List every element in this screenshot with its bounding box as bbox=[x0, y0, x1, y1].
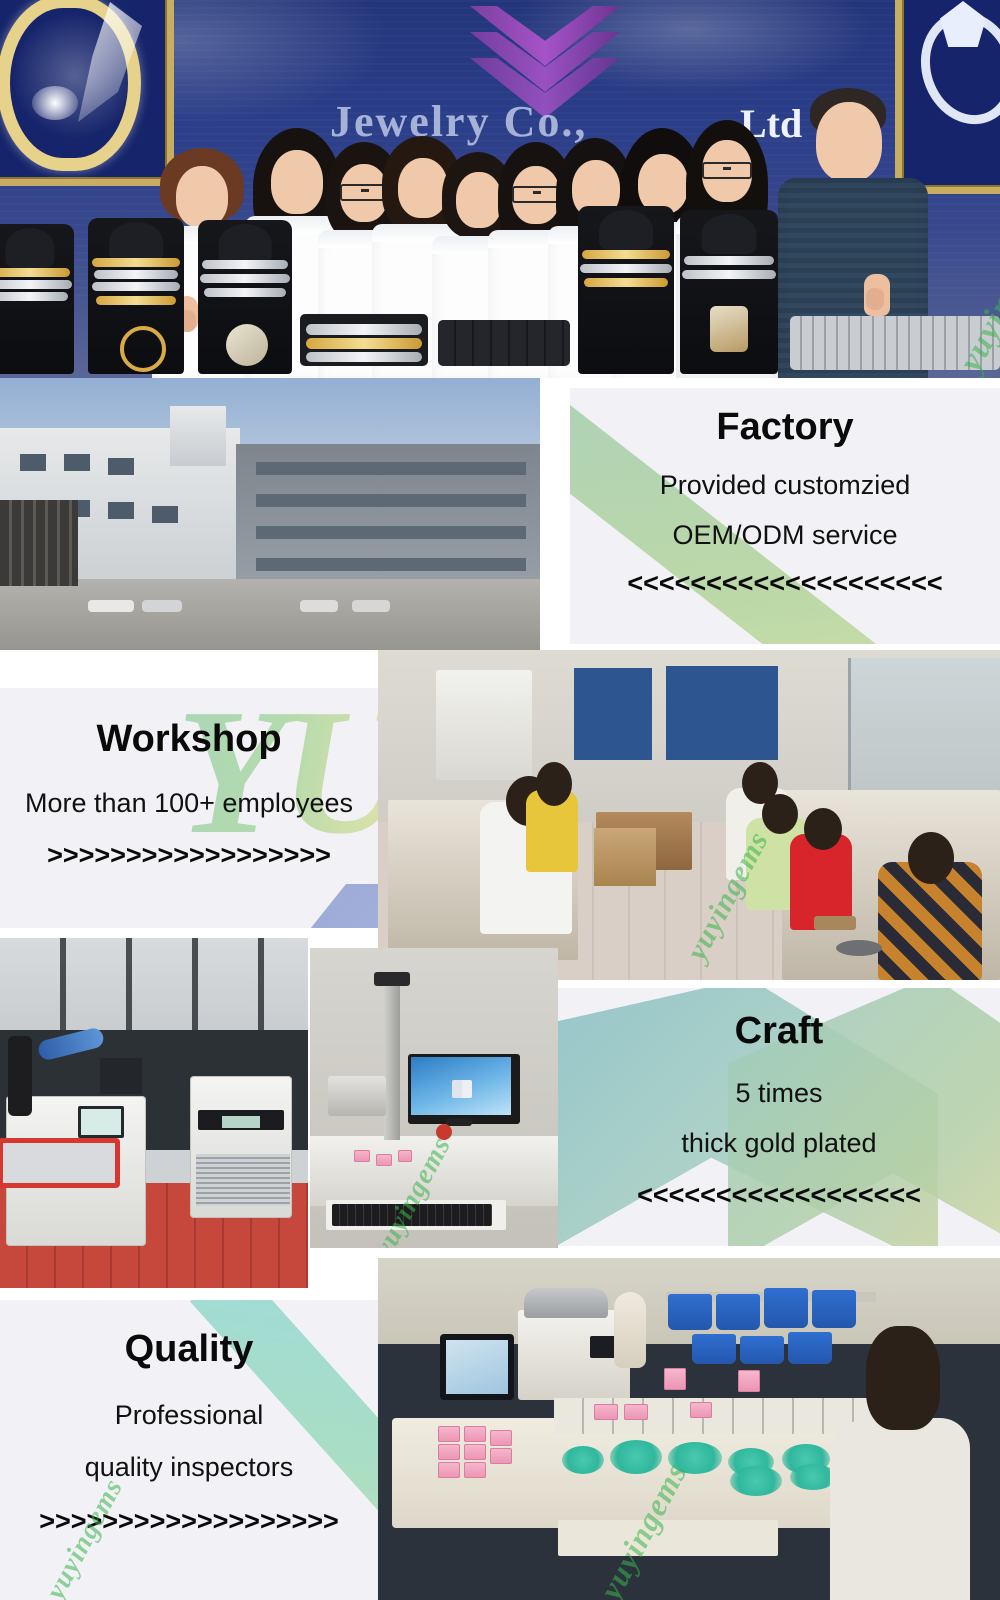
ring-tray bbox=[438, 320, 570, 366]
worker bbox=[526, 790, 578, 872]
workshop-info-panel: YU Workshop More than 100+ employees >>>… bbox=[0, 688, 378, 928]
pendant-photo bbox=[710, 306, 748, 352]
pendant bbox=[120, 326, 166, 372]
cardboard-boxes bbox=[594, 828, 656, 886]
gate-structure bbox=[0, 500, 78, 586]
computer-monitor bbox=[408, 1054, 520, 1124]
laser-head bbox=[328, 1076, 386, 1116]
factory-title: Factory bbox=[570, 406, 1000, 449]
stool bbox=[814, 916, 856, 930]
glass-wall bbox=[0, 938, 308, 1043]
ring-artwork-left bbox=[0, 0, 141, 171]
factory-building-photo: yuyingems bbox=[0, 378, 540, 650]
craft-title: Craft bbox=[558, 1010, 1000, 1053]
factory-arrows: <<<<<<<<<<<<<<<<<<<< bbox=[570, 568, 1000, 599]
factory-info-panel: Factory Provided customzied OEM/ODM serv… bbox=[570, 388, 1000, 644]
laser-marking-machine-photo: yuyingems bbox=[310, 948, 558, 1248]
factory-yard bbox=[0, 579, 540, 650]
jewelry-display-row bbox=[0, 196, 1000, 378]
quality-title: Quality bbox=[0, 1328, 378, 1371]
necklace-bust bbox=[88, 218, 184, 374]
craft-line-1: 5 times bbox=[558, 1078, 1000, 1109]
desk-drawer bbox=[558, 1520, 778, 1556]
windows-logo-icon bbox=[452, 1080, 472, 1098]
bracelet-tray bbox=[300, 314, 428, 366]
quality-inspection-photo: yuyingems bbox=[378, 1258, 1000, 1600]
wall-cabinet bbox=[436, 670, 532, 780]
laser-column bbox=[384, 980, 400, 1140]
worker bbox=[878, 862, 982, 980]
craft-line-2: thick gold plated bbox=[558, 1128, 1000, 1159]
necklace-bust bbox=[578, 206, 674, 374]
craft-arrows: <<<<<<<<<<<<<<<<<< bbox=[558, 1180, 1000, 1211]
laser-welding-machine-photo: yuyingems bbox=[0, 938, 308, 1288]
keyboard bbox=[332, 1204, 492, 1226]
necklace-bust bbox=[0, 224, 74, 374]
craft-info-panel: Craft 5 times thick gold plated <<<<<<<<… bbox=[558, 988, 1000, 1246]
window-blind bbox=[666, 666, 778, 760]
emergency-stop-button bbox=[436, 1124, 452, 1140]
control-screen bbox=[78, 1106, 124, 1138]
product-detail-page: Jewelry Co., Ltd bbox=[0, 0, 1000, 1600]
factory-line-1: Provided customzied bbox=[570, 470, 1000, 501]
quality-line-1: Professional bbox=[0, 1400, 378, 1431]
brand-watermark-yu: YU bbox=[176, 688, 378, 862]
machine-table bbox=[310, 1136, 558, 1206]
necklace-bust bbox=[680, 210, 778, 374]
workshop-arrows: >>>>>>>>>>>>>>>>>> bbox=[0, 840, 378, 871]
quality-info-panel: Quality Professional quality inspectors … bbox=[0, 1300, 378, 1600]
bottle bbox=[614, 1292, 646, 1368]
quality-inspector bbox=[830, 1418, 970, 1600]
blue-corner-shape bbox=[282, 884, 378, 928]
stool bbox=[836, 940, 882, 956]
monitor bbox=[100, 1058, 142, 1094]
window-blind bbox=[574, 668, 652, 760]
team-photo: Jewelry Co., Ltd bbox=[0, 0, 1000, 378]
factory-line-2: OEM/ODM service bbox=[570, 520, 1000, 551]
pendant-medallion bbox=[226, 324, 268, 366]
quality-line-2: quality inspectors bbox=[0, 1452, 378, 1483]
jewelry-poster-frame-left bbox=[0, 0, 174, 186]
quality-arrows: >>>>>>>>>>>>>>>>>>> bbox=[0, 1506, 378, 1537]
workshop-line-1: More than 100+ employees bbox=[0, 788, 378, 819]
microscope bbox=[8, 1036, 32, 1116]
parts-tray bbox=[0, 1138, 120, 1188]
factory-building-tower bbox=[170, 406, 226, 466]
jewelry-tray bbox=[790, 316, 1000, 370]
necklace-bust bbox=[198, 220, 292, 374]
workshop-interior-photo: yuyingems bbox=[378, 650, 1000, 980]
workshop-title: Workshop bbox=[0, 718, 378, 761]
